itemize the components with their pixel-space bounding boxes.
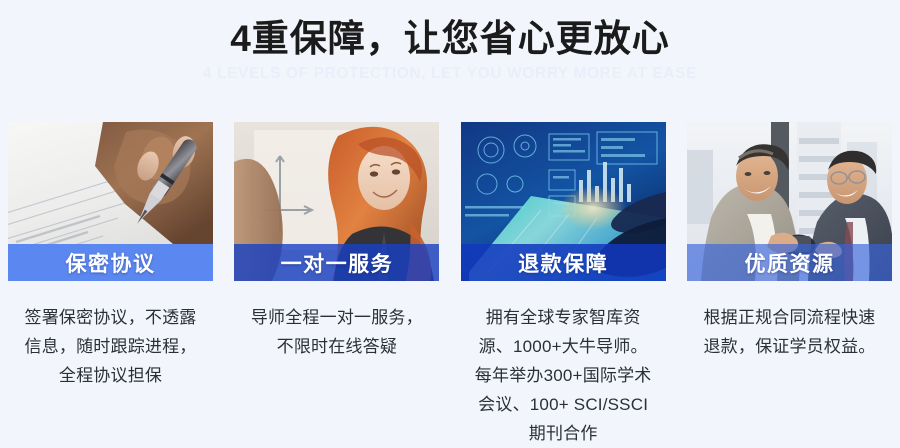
- card-thumbnail-quality-resources: 优质资源: [687, 122, 892, 281]
- page-title: 4重保障，让您省心更放心: [0, 0, 900, 62]
- card-thumbnail-refund-guarantee: 退款保障: [461, 122, 666, 281]
- card-description-quality-resources: 根据正规合同流程快速 退款，保证学员权益。: [683, 281, 895, 361]
- page-subtitle: 4 LEVELS OF PROTECTION, LET YOU WORRY MO…: [0, 62, 900, 84]
- feature-card-confidentiality-agreement[interactable]: 保密协议 签署保密协议，不透露 信息，随时跟踪进程， 全程协议担保: [8, 122, 213, 390]
- card-thumbnail-confidentiality-agreement: 保密协议: [8, 122, 213, 281]
- feature-card-one-on-one-service[interactable]: dP dCH: [234, 122, 439, 361]
- card-thumbnail-one-on-one-service: dP dCH: [234, 122, 439, 281]
- card-description-confidentiality-agreement: 签署保密协议，不透露 信息，随时跟踪进程， 全程协议担保: [5, 281, 217, 390]
- card-badge-confidentiality-agreement: 保密协议: [8, 244, 213, 281]
- feature-card-list: 保密协议 签署保密协议，不透露 信息，随时跟踪进程， 全程协议担保: [8, 122, 892, 448]
- feature-card-refund-guarantee[interactable]: 退款保障 拥有全球专家智库资 源、1000+大牛导师。 每年举办300+国际学术…: [461, 122, 666, 448]
- card-badge-quality-resources: 优质资源: [687, 244, 892, 281]
- card-description-refund-guarantee: 拥有全球专家智库资 源、1000+大牛导师。 每年举办300+国际学术 会议、1…: [457, 281, 669, 448]
- card-badge-refund-guarantee: 退款保障: [461, 244, 666, 281]
- promo-panel: 4重保障，让您省心更放心 4 LEVELS OF PROTECTION, LET…: [0, 0, 900, 445]
- card-badge-one-on-one-service: 一对一服务: [234, 244, 439, 281]
- page-header: 4重保障，让您省心更放心 4 LEVELS OF PROTECTION, LET…: [0, 0, 900, 84]
- feature-card-quality-resources[interactable]: 优质资源 根据正规合同流程快速 退款，保证学员权益。: [687, 122, 892, 361]
- card-description-one-on-one-service: 导师全程一对一服务， 不限时在线答疑: [231, 281, 443, 361]
